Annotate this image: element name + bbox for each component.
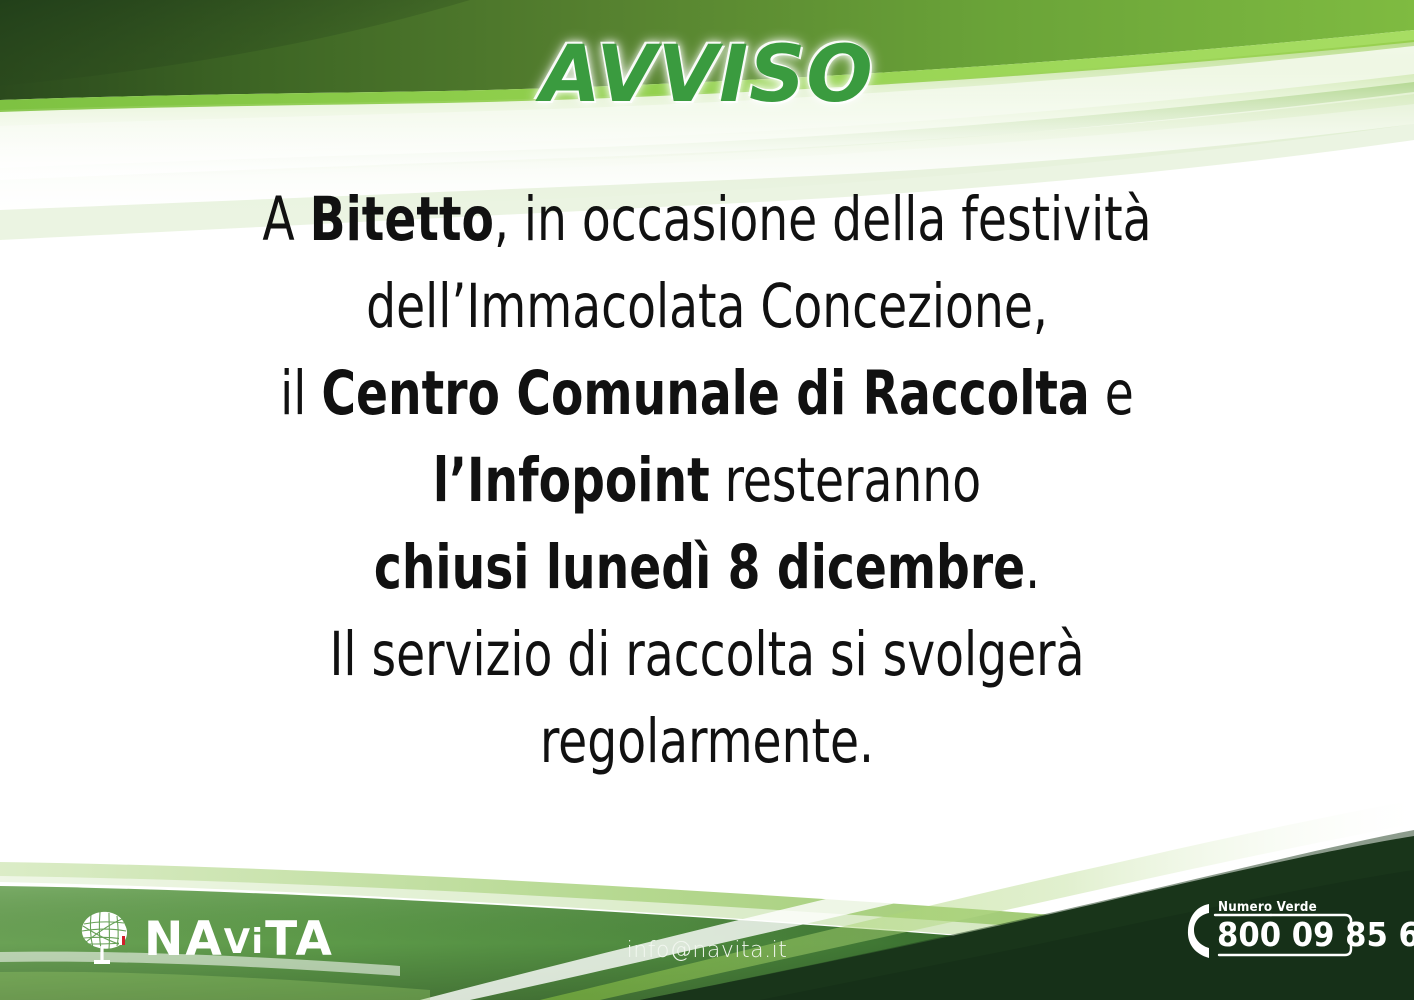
numero-verde-label: Numero Verde xyxy=(1218,900,1317,915)
message-line-6: Il servizio di raccolta si svolgerà xyxy=(99,611,1315,698)
message-emphasis: Bitetto xyxy=(310,184,494,255)
message-line-2: dell’Immacolata Concezione, xyxy=(99,263,1315,350)
message-text: dell’Immacolata Concezione, xyxy=(366,271,1048,342)
message-line-7: regolarmente. xyxy=(99,698,1315,785)
message-line-3: il Centro Comunale di Raccolta e xyxy=(99,350,1315,437)
message-text: resteranno xyxy=(710,445,981,516)
message-text: regolarmente. xyxy=(540,706,874,777)
title-container: AVVISO xyxy=(0,36,1414,114)
message-emphasis: l’Infopoint xyxy=(433,445,710,516)
contact-email-text: info@navita.it xyxy=(627,938,788,963)
message-text: , in occasione della festività xyxy=(494,184,1152,255)
message-emphasis: chiusi lunedì 8 dicembre xyxy=(374,532,1025,603)
announcement-body: A Bitetto, in occasione della festività … xyxy=(0,176,1414,785)
numero-verde-badge[interactable]: Numero Verde 800 09 85 63 xyxy=(1185,898,1360,964)
avviso-poster: AVVISO A Bitetto, in occasione della fes… xyxy=(0,0,1414,1000)
message-line-4: l’Infopoint resteranno xyxy=(99,437,1315,524)
page-title: AVVISO xyxy=(540,36,873,114)
message-text: il xyxy=(280,358,321,429)
message-text: . xyxy=(1025,532,1040,603)
message-text: Il servizio di raccolta si svolgerà xyxy=(330,619,1085,690)
numero-verde-number: 800 09 85 63 xyxy=(1217,916,1414,954)
message-line-1: A Bitetto, in occasione della festività xyxy=(99,176,1315,263)
message-emphasis: Centro Comunale di Raccolta xyxy=(321,358,1089,429)
message-line-5: chiusi lunedì 8 dicembre. xyxy=(99,524,1315,611)
message-text: A xyxy=(262,184,309,255)
message-text: e xyxy=(1090,358,1134,429)
